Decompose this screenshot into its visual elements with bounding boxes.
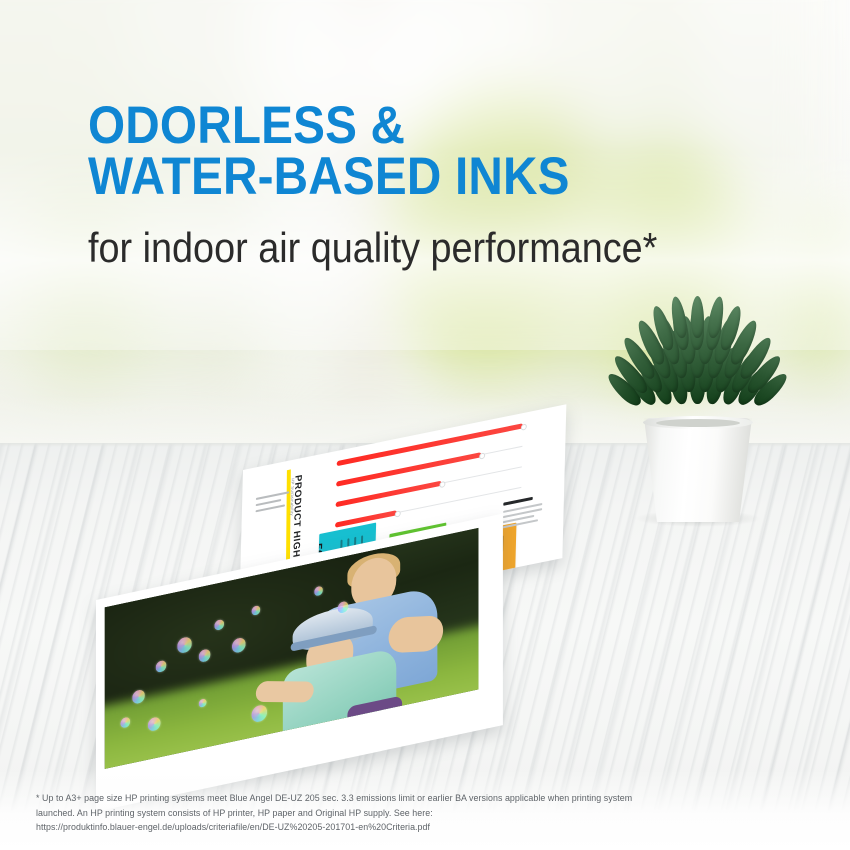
pot-inner-soil: [656, 419, 740, 427]
marketing-banner: ODORLESS & WATER-BASED INKS for indoor a…: [0, 0, 850, 850]
footnote: * Up to A3+ page size HP printing system…: [36, 791, 826, 835]
chart-bar-endpoint: [521, 423, 527, 430]
child-arm: [254, 681, 315, 702]
potted-plant: [612, 312, 782, 522]
footnote-line-1: * Up to A3+ page size HP printing system…: [36, 791, 814, 806]
chart-bar-endpoint: [479, 452, 485, 459]
headline-line-2: WATER-BASED INKS: [88, 151, 718, 202]
headline-line-1: ODORLESS &: [88, 100, 718, 151]
plant-pot: [644, 418, 752, 522]
headline: ODORLESS & WATER-BASED INKS: [88, 100, 788, 203]
report-microtext: [256, 491, 289, 500]
chart-bar: [336, 481, 442, 508]
subheadline: for indoor air quality performance*: [88, 227, 772, 270]
succulent-leaf: [691, 296, 704, 338]
chart-bar-endpoint: [440, 480, 446, 487]
report-side-heading: [503, 497, 532, 506]
footnote-line-3: https://produktinfo.blauer-engel.de/uplo…: [36, 820, 814, 835]
report-microtext: [256, 504, 285, 512]
chart-bar-endpoint: [394, 510, 400, 517]
footnote-line-2: launched. An HP printing system consists…: [36, 806, 814, 821]
